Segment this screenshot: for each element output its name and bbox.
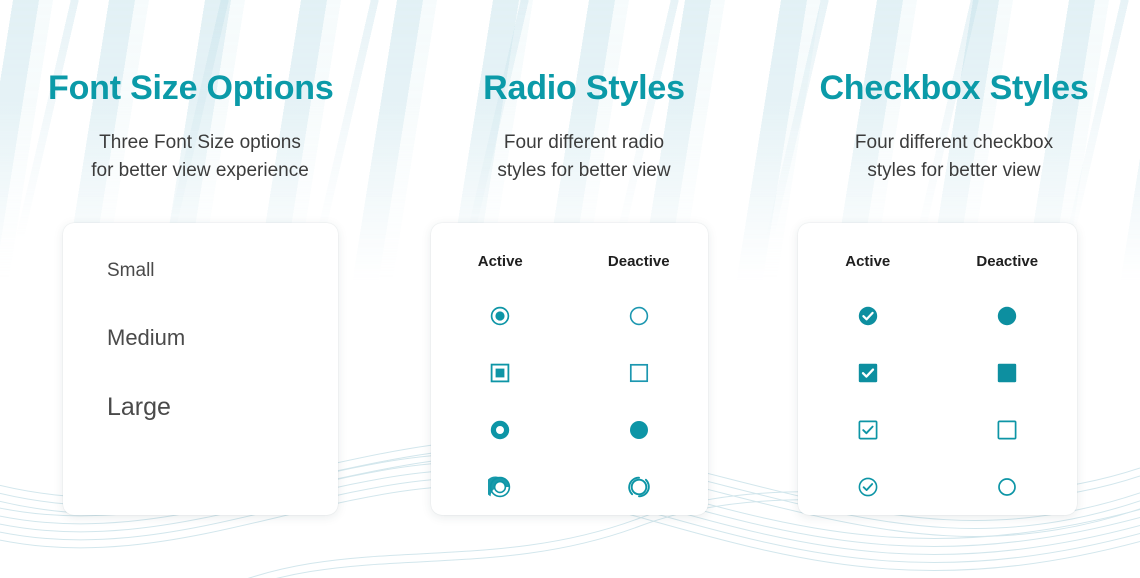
checkbox-row-3 [798, 401, 1077, 458]
font-size-option-medium[interactable]: Medium [107, 327, 338, 349]
checkbox-square-filled-check-icon[interactable] [798, 344, 938, 401]
radio-donut-thick-icon[interactable] [431, 401, 570, 458]
checkbox-header-deactive: Deactive [938, 253, 1078, 270]
checkbox-header-active: Active [798, 253, 938, 270]
column-checkbox-styles: Checkbox Styles Four different checkbox … [768, 0, 1140, 184]
radio-square-filled-inner-icon[interactable] [431, 344, 570, 401]
radio-row-3 [431, 401, 708, 458]
page-title-font-size-options: Font Size Options [44, 0, 400, 107]
column-radio-styles: Radio Styles Four different radio styles… [400, 0, 768, 184]
radio-slashed-ring-icon[interactable] [570, 458, 709, 515]
subtitle-checkbox-styles: Four different checkbox styles for bette… [768, 107, 1140, 184]
checkbox-row-4 [798, 458, 1077, 515]
font-size-options-card: Small Medium Large [63, 223, 338, 515]
radio-grid-header: Active Deactive [431, 253, 708, 270]
radio-row-4 [431, 458, 708, 515]
column-font-size-options: Font Size Options Three Font Size option… [0, 0, 400, 184]
radio-row-2 [431, 344, 708, 401]
feature-columns: Font Size Options Three Font Size option… [0, 0, 1140, 184]
subtitle-radio-styles: Four different radio styles for better v… [400, 107, 768, 184]
font-size-option-large[interactable]: Large [107, 395, 338, 420]
checkbox-circle-outline-icon[interactable] [938, 458, 1078, 515]
radio-row-1 [431, 287, 708, 344]
radio-square-outline-icon[interactable] [570, 344, 709, 401]
checkbox-grid-rows [798, 287, 1077, 515]
checkbox-grid-header: Active Deactive [798, 253, 1077, 270]
radio-header-deactive: Deactive [570, 253, 709, 270]
radio-header-active: Active [431, 253, 570, 270]
radio-circle-filled-icon[interactable] [570, 401, 709, 458]
radio-styles-grid: Active Deactive [431, 223, 708, 515]
checkbox-circle-outline-check-icon[interactable] [798, 458, 938, 515]
checkbox-row-2 [798, 344, 1077, 401]
radio-dot-in-ring-icon[interactable] [431, 287, 570, 344]
page-title-checkbox-styles: Checkbox Styles [768, 0, 1140, 107]
radio-grid-rows [431, 287, 708, 515]
checkbox-row-1 [798, 287, 1077, 344]
checkbox-styles-card: Active Deactive [798, 223, 1077, 515]
radio-styles-card: Active Deactive [431, 223, 708, 515]
page-title-radio-styles: Radio Styles [400, 0, 768, 107]
checkbox-square-filled-icon[interactable] [938, 344, 1078, 401]
checkbox-circle-filled-icon[interactable] [938, 287, 1078, 344]
checkbox-square-outline-check-icon[interactable] [798, 401, 938, 458]
font-size-option-small[interactable]: Small [107, 261, 338, 280]
subtitle-font-size-options: Three Font Size options for better view … [44, 107, 356, 184]
checkbox-square-outline-icon[interactable] [938, 401, 1078, 458]
checkbox-circle-filled-check-icon[interactable] [798, 287, 938, 344]
checkbox-styles-grid: Active Deactive [798, 223, 1077, 515]
radio-empty-ring-icon[interactable] [570, 287, 709, 344]
radio-slashed-donut-filled-icon[interactable] [431, 458, 570, 515]
